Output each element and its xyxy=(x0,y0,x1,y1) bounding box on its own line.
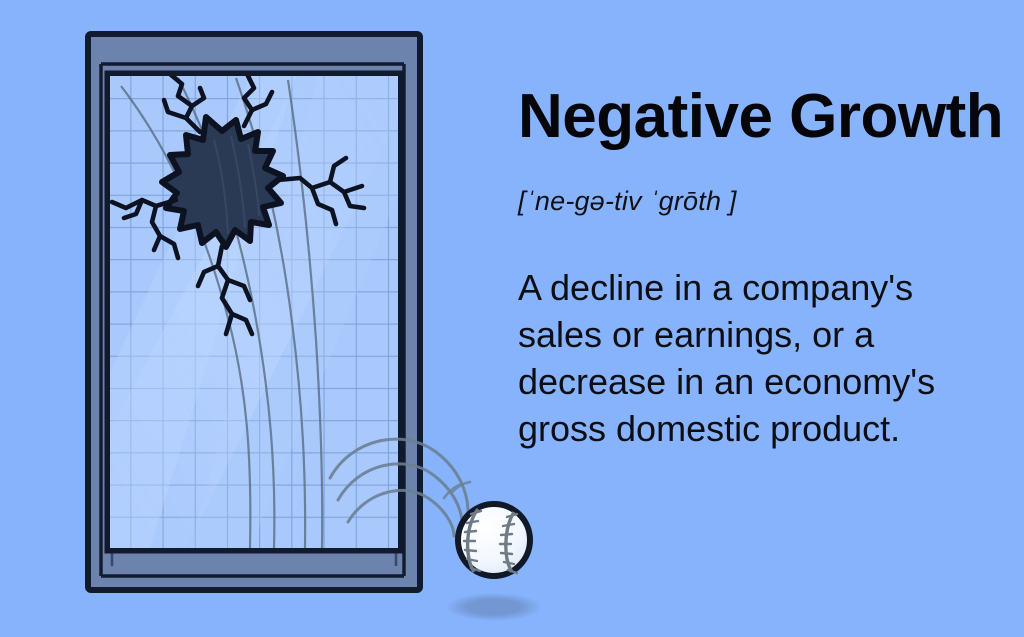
definition-text-column: Negative Growth [ˈne-gə-tiv ˈgrōth ] A d… xyxy=(518,0,1018,632)
definition-line: A decline in a company's xyxy=(518,264,988,311)
pronunciation: [ˈne-gə-tiv ˈgrōth ] xyxy=(518,188,737,215)
broken-window-illustration xyxy=(0,0,600,632)
definition-line: sales or earnings, or a xyxy=(518,311,988,358)
page-title: Negative Growth xyxy=(518,86,1003,148)
illustration-svg xyxy=(0,0,600,632)
definition-text: A decline in a company's sales or earnin… xyxy=(518,264,988,453)
definition-line: gross domestic product. xyxy=(518,405,988,452)
definition-line: decrease in an economy's xyxy=(518,358,988,405)
definition-card: Negative Growth [ˈne-gə-tiv ˈgrōth ] A d… xyxy=(0,0,1024,632)
window-glass xyxy=(110,66,398,548)
